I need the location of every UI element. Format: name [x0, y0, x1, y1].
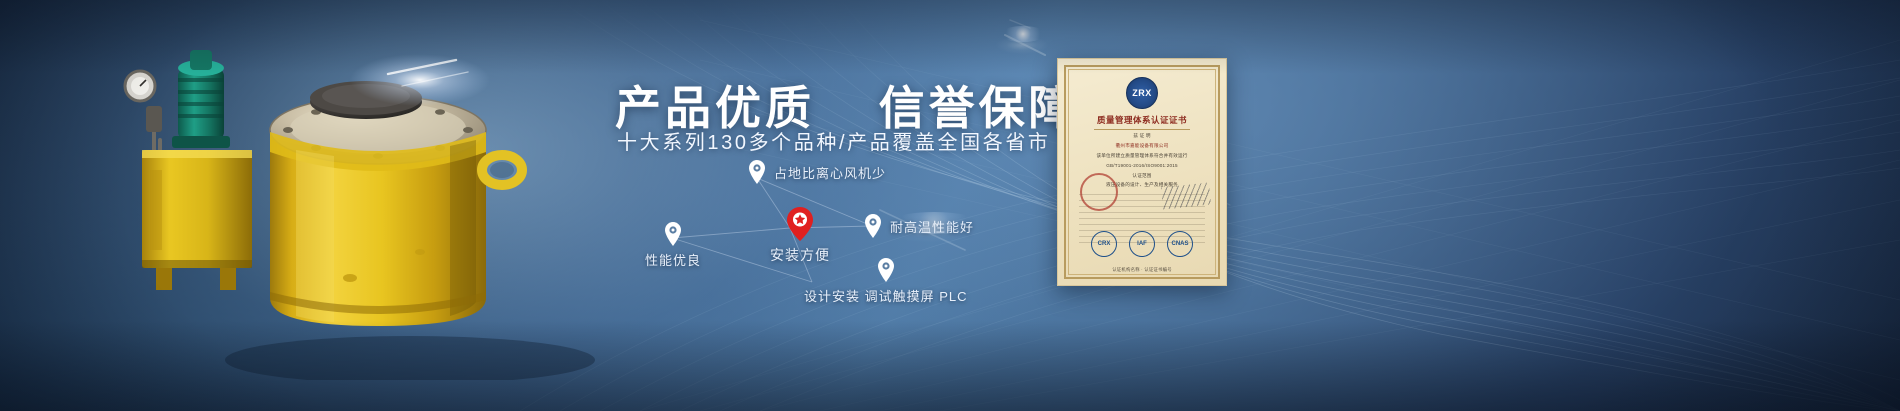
certificate-footer: 认证机构名称 · 认证证书编号	[1058, 267, 1226, 273]
certificate-standard: GB/T19001-2016/ISO9001:2015	[1106, 163, 1178, 170]
certificate-scope-note: 该单位所建立质量管理体系符合并有效运行	[1096, 153, 1187, 160]
map-pin-icon	[877, 258, 895, 282]
certificate-image[interactable]: ZRX 质量管理体系认证证书 兹 证 明 衢州市嘉能设备有限公司 该单位所建立质…	[1057, 58, 1227, 286]
certificate-red-stamp	[1080, 173, 1118, 211]
feature-pin-easy-installation[interactable]: 安装方便	[770, 207, 830, 265]
certificate-title: 质量管理体系认证证书	[1097, 114, 1187, 126]
feature-pin-good-performance[interactable]: 性能优良	[645, 222, 701, 269]
certificate-company-name: 衢州市嘉能设备有限公司	[1116, 143, 1169, 150]
certificate-seal-logo: ZRX	[1126, 77, 1158, 109]
feature-pin-design-install-plc[interactable]: 设计安装 调试触摸屏 PLC	[804, 258, 968, 305]
certificate-range-label: 认证范围	[1132, 173, 1151, 180]
certificate-accreditation-logos: CRX IAF CNAS	[1058, 231, 1226, 257]
certificate-divider	[1094, 129, 1190, 130]
map-pin-icon	[664, 222, 682, 246]
feature-pin-high-temperature[interactable]: 耐高温性能好	[864, 214, 974, 238]
map-pin-icon	[864, 214, 882, 238]
feature-pin-label: 性能优良	[645, 250, 701, 269]
feature-pin-label: 耐高温性能好	[890, 217, 974, 236]
feature-pin-label: 设计安装 调试触摸屏 PLC	[804, 286, 968, 305]
certificate-company-label: 兹 证 明	[1133, 133, 1150, 140]
promo-banner: 产品优质 信誉保障 十大系列130多个品种/产品覆盖全国各省市 占地比离心风机少	[0, 0, 1900, 411]
feature-pin-occupies-less-space[interactable]: 占地比离心风机少	[748, 160, 886, 184]
pin-connector-lines	[0, 0, 1900, 411]
map-pin-star-icon	[787, 207, 813, 241]
feature-pin-label: 占地比离心风机少	[774, 163, 886, 182]
map-pin-icon	[748, 160, 766, 184]
certificate-logo-1: IAF	[1129, 231, 1155, 257]
certificate-logo-2: CNAS	[1167, 231, 1193, 257]
certificate-logo-0: CRX	[1091, 231, 1117, 257]
